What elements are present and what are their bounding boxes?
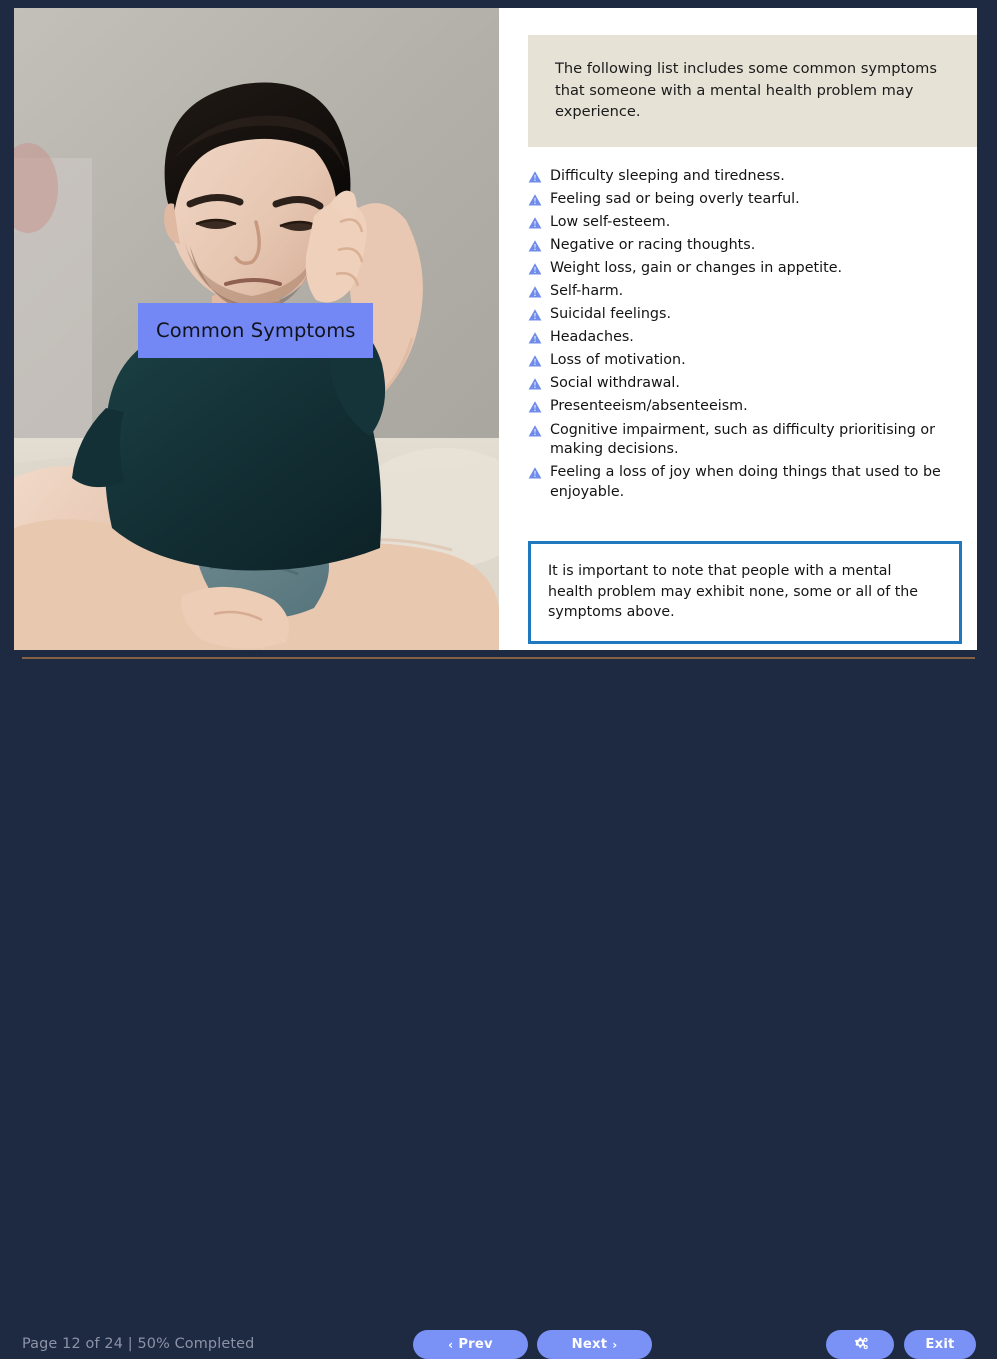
symptom-item: Social withdrawal. [528, 374, 970, 394]
symptom-item: Self-harm. [528, 282, 970, 302]
exit-button-label: Exit [925, 1337, 954, 1352]
exit-button[interactable]: Exit [904, 1330, 976, 1359]
prev-button[interactable]: ‹ Prev [413, 1330, 528, 1359]
symptom-item: Negative or racing thoughts. [528, 236, 970, 256]
warning-triangle-icon [528, 308, 542, 322]
symptom-item: Cognitive impairment, such as difficulty… [528, 421, 970, 461]
symptom-item: Suicidal feelings. [528, 305, 970, 325]
warning-triangle-icon [528, 354, 542, 368]
important-note-callout: It is important to note that people with… [528, 541, 962, 644]
slide-stage: Common Symptoms The following list inclu… [14, 8, 977, 650]
prev-button-label: Prev [458, 1337, 493, 1352]
symptom-text: Feeling a loss of joy when doing things … [550, 463, 970, 503]
symptom-item: Loss of motivation. [528, 351, 970, 371]
symptom-text: Self-harm. [550, 282, 623, 302]
symptom-item: Feeling sad or being overly tearful. [528, 190, 970, 210]
symptom-text: Feeling sad or being overly tearful. [550, 190, 800, 210]
slide-content: The following list includes some common … [499, 8, 977, 650]
chevron-left-icon: ‹ [448, 1339, 453, 1351]
navigation-buttons: ‹ Prev Next › [413, 1330, 652, 1359]
next-button-label: Next [572, 1337, 608, 1352]
symptom-item: Presenteeism/absenteeism. [528, 397, 970, 417]
symptom-text: Cognitive impairment, such as difficulty… [550, 421, 970, 461]
progress-status: Page 12 of 24 | 50% Completed [22, 1336, 254, 1352]
symptom-item: Low self-esteem. [528, 213, 970, 233]
cogs-icon [851, 1335, 870, 1354]
warning-triangle-icon [528, 262, 542, 276]
symptom-text: Suicidal feelings. [550, 305, 671, 325]
symptom-text: Presenteeism/absenteeism. [550, 397, 748, 417]
symptom-list: Difficulty sleeping and tiredness.Feelin… [528, 167, 970, 504]
intro-callout: The following list includes some common … [528, 35, 977, 147]
slide-title-plate: Common Symptoms [138, 303, 373, 358]
warning-triangle-icon [528, 239, 542, 253]
settings-button[interactable] [826, 1330, 894, 1359]
player-bottom-bar: Page 12 of 24 | 50% Completed ‹ Prev Nex… [0, 660, 997, 732]
symptom-text: Weight loss, gain or changes in appetite… [550, 259, 842, 279]
warning-triangle-icon [528, 466, 542, 480]
footer-divider [22, 657, 975, 659]
utility-buttons: Exit [826, 1330, 976, 1359]
page-title: Common Symptoms [156, 319, 356, 342]
symptom-item: Weight loss, gain or changes in appetite… [528, 259, 970, 279]
symptom-text: Difficulty sleeping and tiredness. [550, 167, 785, 187]
warning-triangle-icon [528, 331, 542, 345]
warning-triangle-icon [528, 193, 542, 207]
next-button[interactable]: Next › [537, 1330, 652, 1359]
symptom-item: Feeling a loss of joy when doing things … [528, 463, 970, 503]
symptom-text: Social withdrawal. [550, 374, 680, 394]
symptom-item: Headaches. [528, 328, 970, 348]
warning-triangle-icon [528, 216, 542, 230]
symptom-text: Negative or racing thoughts. [550, 236, 755, 256]
warning-triangle-icon [528, 400, 542, 414]
chevron-right-icon: › [612, 1339, 617, 1351]
course-player-frame: Common Symptoms The following list inclu… [0, 0, 997, 732]
slide-photo: Common Symptoms [14, 8, 499, 650]
symptom-text: Headaches. [550, 328, 634, 348]
warning-triangle-icon [528, 170, 542, 184]
important-note-text: It is important to note that people with… [548, 561, 939, 623]
warning-triangle-icon [528, 377, 542, 391]
warning-triangle-icon [528, 285, 542, 299]
symptom-item: Difficulty sleeping and tiredness. [528, 167, 970, 187]
intro-text: The following list includes some common … [555, 58, 954, 123]
warning-triangle-icon [528, 424, 542, 438]
symptom-text: Low self-esteem. [550, 213, 670, 233]
symptom-text: Loss of motivation. [550, 351, 686, 371]
